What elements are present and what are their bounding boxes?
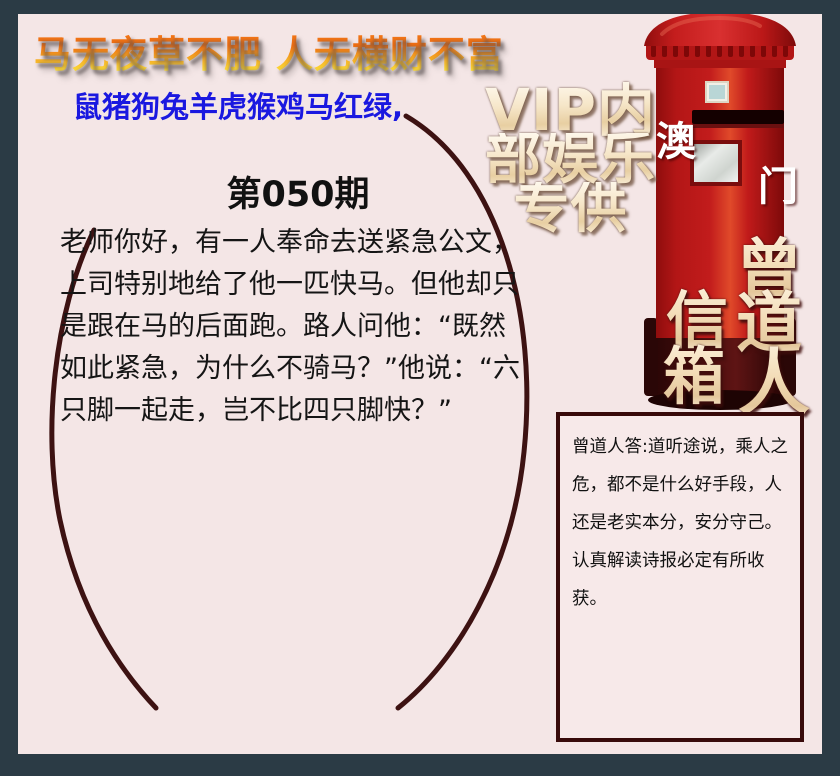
poster-page: 马无夜草不肥 人无横财不富 鼠猪狗兔羊虎猴鸡马红绿, 第050期 老师你好，有一…: [18, 14, 822, 754]
issue-number: 第050期: [18, 166, 578, 217]
brand-char-xiang: 箱: [663, 326, 725, 416]
answer-box-text: 曾道人答:道听途说，乘人之危，都不是什么好手段，人还是老实本分，安分守己。认真解…: [572, 428, 790, 618]
mailbox-illustration: 澳 门 曾 道 人 信 箱: [618, 14, 822, 414]
page-title: 马无夜草不肥 人无横财不富: [34, 24, 634, 78]
answer-box: 曾道人答:道听途说，乘人之危，都不是什么好手段，人还是老实本分，安分守己。认真解…: [556, 412, 804, 742]
mailbox-label-city-first: 澳: [656, 109, 696, 167]
poster-root: 马无夜草不肥 人无横财不富 鼠猪狗兔羊虎猴鸡马红绿, 第050期 老师你好，有一…: [0, 0, 840, 776]
zodiac-subtitle: 鼠猪狗兔羊虎猴鸡马红绿,: [73, 84, 403, 126]
mailbox-label-city-second: 门: [758, 154, 798, 212]
riddle-body-text: 老师你好，有一人奉命去送紧急公文，上司特别地给了他一匹快马。但他却只是跟在马的后…: [60, 222, 530, 432]
